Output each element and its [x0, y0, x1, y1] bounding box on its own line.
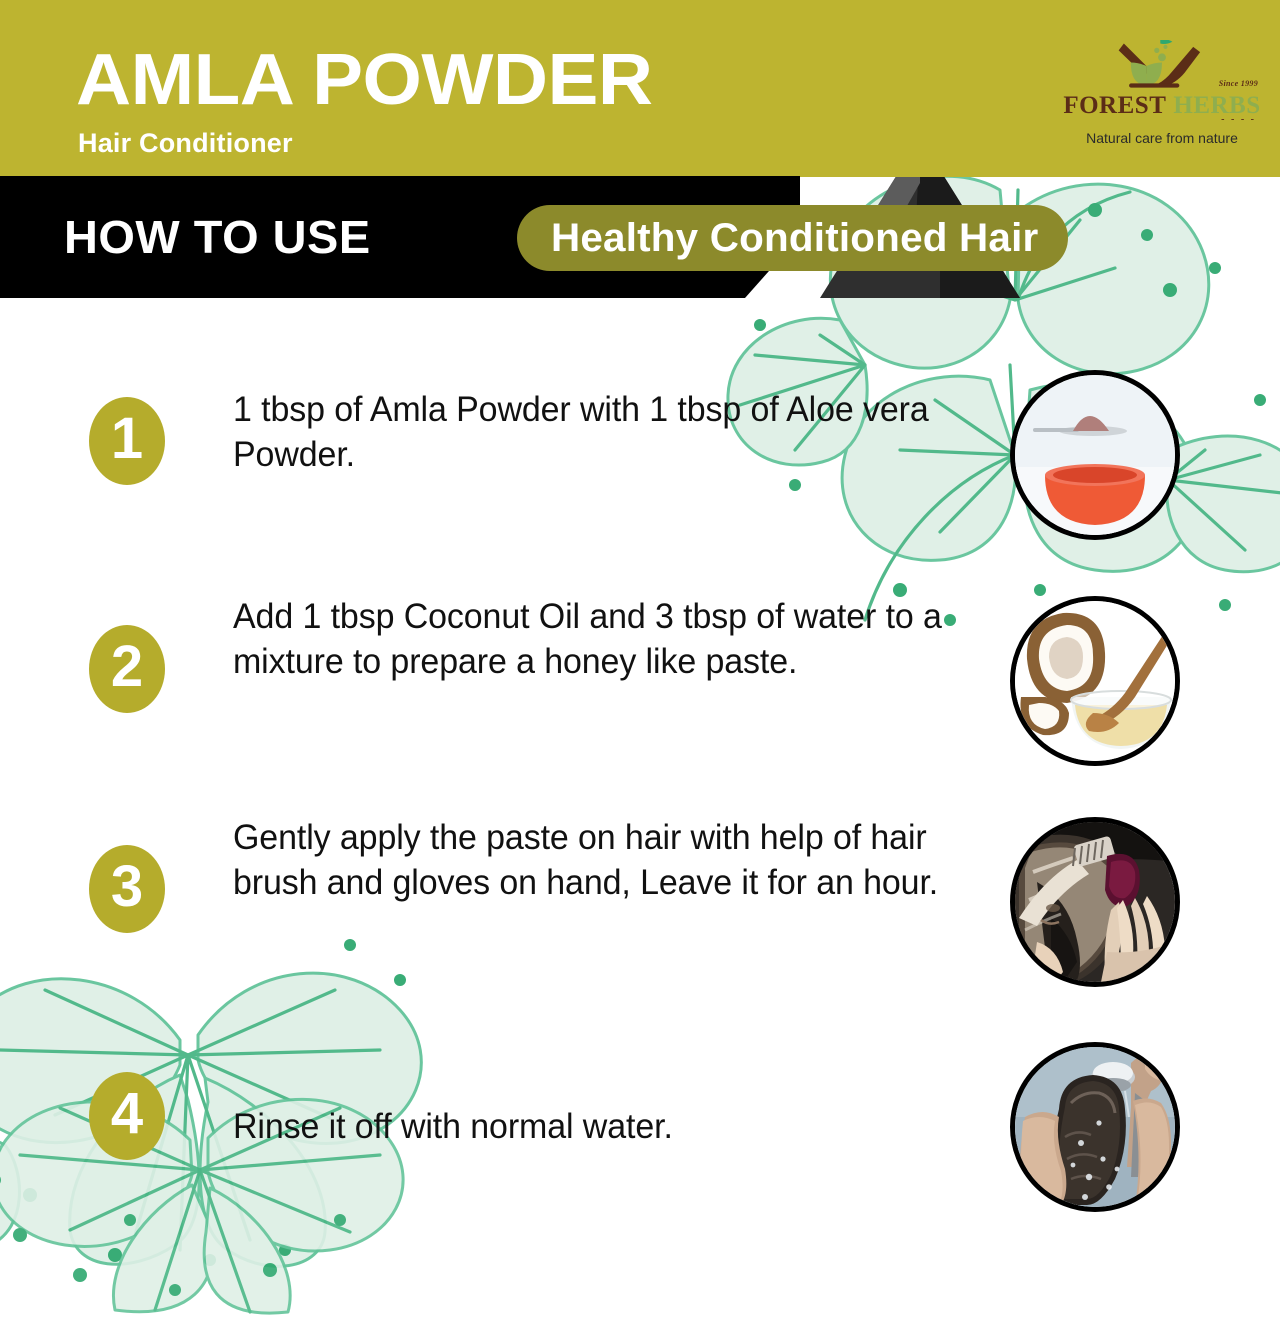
step-text-4: Rinse it off with normal water.: [233, 1105, 970, 1150]
brand-dash-rule: - - - -: [1221, 115, 1256, 125]
brand-logo: FORESTHERBS Since 1999 - - - - Natural c…: [1062, 40, 1262, 168]
step-badge-2: 2: [89, 625, 165, 713]
step-badge-1: 1: [89, 397, 165, 485]
step-number-1: 1: [111, 410, 143, 468]
step-text-3: Gently apply the paste on hair with help…: [233, 816, 970, 906]
page-title: AMLA POWDER: [76, 44, 652, 116]
step-badge-3: 3: [89, 845, 165, 933]
step-text-1: 1 tbsp of Amla Powder with 1 tbsp of Alo…: [233, 388, 970, 478]
section-title: HOW TO USE: [64, 210, 371, 264]
page-header: AMLA POWDER Hair Conditioner FORESTHERBS…: [0, 0, 1280, 177]
step-badge-4: 4: [89, 1072, 165, 1160]
step-number-2: 2: [111, 638, 143, 696]
benefit-badge-label: Healthy Conditioned Hair: [551, 216, 1038, 261]
hair-brush-application-icon: [1010, 817, 1180, 987]
brand-since-label: Since 1999: [1219, 80, 1258, 88]
shower-rinse-icon: [1010, 1042, 1180, 1212]
page-subtitle: Hair Conditioner: [78, 128, 293, 159]
brand-wordmark: FORESTHERBS Since 1999 - - - -: [1062, 93, 1262, 118]
mortar-and-pestle-icon: [1110, 40, 1214, 92]
step-number-4: 4: [111, 1085, 143, 1143]
benefit-badge: Healthy Conditioned Hair: [517, 205, 1068, 271]
brand-word-forest: FOREST: [1063, 92, 1166, 119]
brand-tagline: Natural care from nature: [1062, 130, 1262, 146]
step-text-2: Add 1 tbsp Coconut Oil and 3 tbsp of wat…: [233, 595, 970, 685]
coconut-oil-bowl-icon: [1010, 596, 1180, 766]
leaf-watermark-bottom-left: [0, 1020, 460, 1320]
step-number-3: 3: [111, 858, 143, 916]
spoon-and-bowl-icon: [1010, 370, 1180, 540]
leaf-watermark-middle-left: [0, 850, 500, 1270]
